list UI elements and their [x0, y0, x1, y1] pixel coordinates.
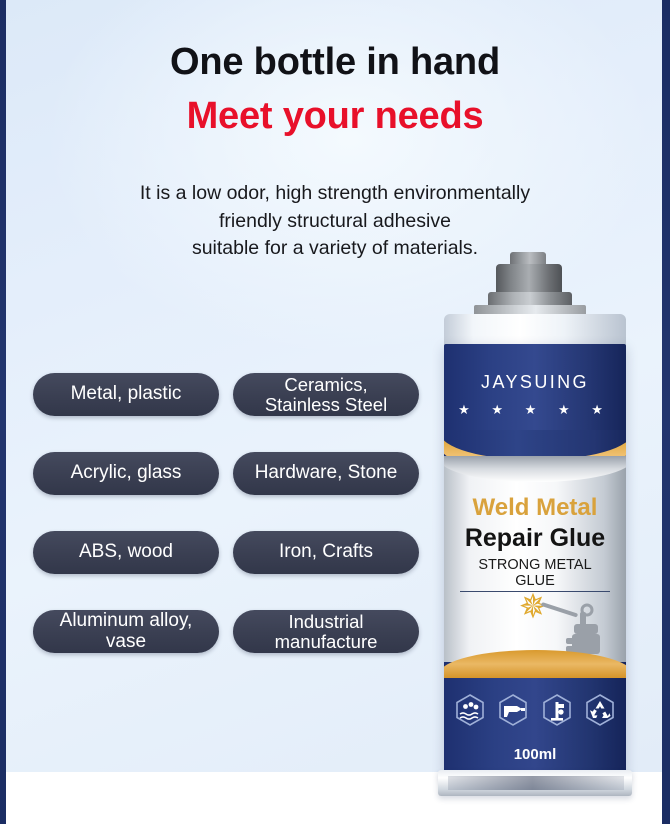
- brand-name: JAYSUING: [444, 372, 626, 393]
- recycle-icon: [582, 692, 618, 728]
- material-pill-acrylic-glass[interactable]: Acrylic, glass: [33, 452, 219, 495]
- pill-row: Metal, plastic Ceramics, Stainless Steel: [33, 373, 433, 416]
- pill-row: ABS, wood Iron, Crafts: [33, 531, 433, 574]
- material-pill-ceramics-stainless-steel[interactable]: Ceramics, Stainless Steel: [233, 373, 419, 416]
- material-pill-aluminum-alloy-vase[interactable]: Aluminum alloy, vase: [33, 610, 219, 653]
- bottle-shoulder: [444, 314, 626, 348]
- material-pill-hardware-stone[interactable]: Hardware, Stone: [233, 452, 419, 495]
- feature-icon-row: [452, 692, 618, 728]
- material-pill-label: Hardware, Stone: [255, 463, 398, 483]
- material-pill-label: Acrylic, glass: [71, 463, 182, 483]
- material-pill-industrial-manufacture[interactable]: Industrial manufacture: [233, 610, 419, 653]
- material-pill-label: Aluminum alloy, vase: [60, 611, 193, 651]
- product-bottle: JAYSUING ★ ★ ★ ★ ★ Weld Metal Repair Glu…: [444, 252, 626, 797]
- product-tagline: STRONG METAL GLUE: [460, 557, 610, 592]
- plumbing-icon: [539, 692, 575, 728]
- material-pill-label: ABS, wood: [79, 542, 173, 562]
- rating-stars: ★ ★ ★ ★ ★: [444, 402, 626, 418]
- material-pill-label: Metal, plastic: [71, 384, 182, 404]
- bottle-label: JAYSUING ★ ★ ★ ★ ★ Weld Metal Repair Glu…: [444, 344, 626, 774]
- headline-secondary: Meet your needs: [0, 94, 670, 139]
- product-volume: 100ml: [444, 746, 626, 763]
- product-title-gold: Weld Metal: [444, 494, 626, 522]
- headline-block: One bottle in hand Meet your needs: [0, 40, 670, 139]
- material-pill-label: Ceramics, Stainless Steel: [265, 375, 387, 414]
- material-pill-iron-crafts[interactable]: Iron, Crafts: [233, 531, 419, 574]
- power-tool-icon: [495, 692, 531, 728]
- welding-torch-icon: [540, 596, 612, 658]
- bottle-base-shadow: [448, 776, 624, 790]
- material-pill-grid: Metal, plastic Ceramics, Stainless Steel…: [33, 373, 433, 689]
- material-pill-label: Industrial manufacture: [275, 612, 378, 651]
- product-description: It is a low odor, high strength environm…: [50, 180, 620, 263]
- waterproof-icon: [452, 692, 488, 728]
- headline-primary: One bottle in hand: [0, 40, 670, 85]
- product-poster: One bottle in hand Meet your needs It is…: [0, 0, 670, 824]
- product-title-black: Repair Glue: [444, 524, 626, 553]
- pill-row: Acrylic, glass Hardware, Stone: [33, 452, 433, 495]
- material-pill-label: Iron, Crafts: [279, 542, 373, 562]
- material-pill-metal-plastic[interactable]: Metal, plastic: [33, 373, 219, 416]
- pill-row: Aluminum alloy, vase Industrial manufact…: [33, 610, 433, 653]
- material-pill-abs-wood[interactable]: ABS, wood: [33, 531, 219, 574]
